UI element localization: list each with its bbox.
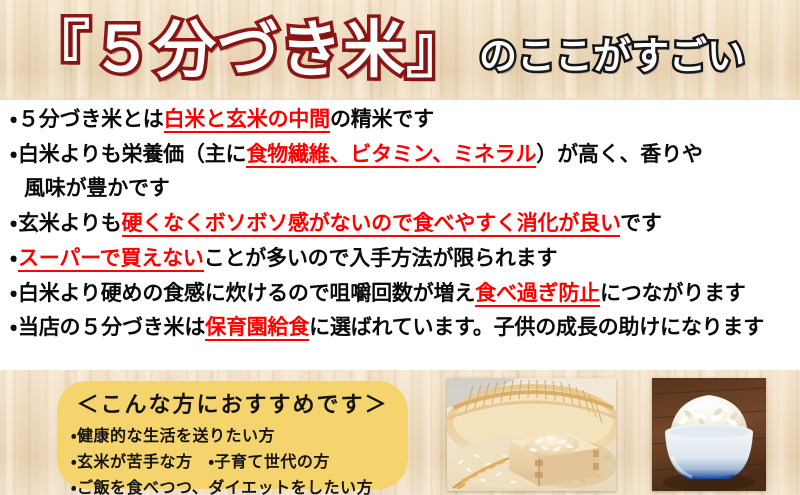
recommendation-item-text: ・玄米が苦手な方 (71, 452, 192, 471)
rice-in-masu-box-illustration (447, 378, 616, 491)
cooked-rice-bowl-illustration (652, 378, 766, 491)
bullet-marker: ・ (10, 246, 17, 270)
bullet-text-plain: ことが多いので入手方法が限られます (204, 246, 558, 270)
bullet-text-highlight: 食物繊維、ビタミン、ミネラル (246, 142, 536, 168)
promo-image: 『５分づき米』 のここがすごい ・５分づき米とは白米と玄米の中間の精米です ・白… (0, 0, 800, 495)
recommendation-item: ・健康的な生活を送りたい方 (71, 422, 408, 446)
bullet-text-highlight: 硬くなくボソボソ感がないので食べやすく消化が良い (122, 211, 621, 237)
list-item: ・白米よりも栄養価（主に食物繊維、ビタミン、ミネラル）が高く、香りや (10, 141, 792, 169)
recommendation-item: ・ご飯を食べつつ、ダイエットをしたい方 (71, 474, 408, 495)
header-title-row: 『５分づき米』 のここがすごい (0, 0, 800, 100)
bullet-text-highlight: 保育園給食 (205, 315, 309, 341)
recommendation-title: ＜こんな方におすすめです＞ (57, 387, 408, 419)
bullet-text-plain: に選ばれています。子供の成長の助けになります (309, 315, 764, 339)
list-item: ・スーパーで買えないことが多いので入手方法が限られます (10, 245, 792, 273)
benefit-list: ・５分づき米とは白米と玄米の中間の精米です ・白米よりも栄養価（主に食物繊維、ビ… (0, 100, 800, 370)
bullet-text-plain: 玄米よりも (18, 211, 122, 235)
page-subtitle: のここがすごい (479, 37, 745, 75)
bullet-text-plain: 風味が豊かです (24, 176, 170, 200)
page-title: 『５分づき米』 (28, 19, 469, 81)
bullet-marker: ・ (10, 107, 17, 131)
rice-in-masu-box-photo (447, 378, 616, 491)
cooked-rice-bowl-photo (652, 378, 766, 491)
bullet-marker: ・ (10, 211, 17, 235)
list-item: ・当店の５分づき米は保育園給食に選ばれています。子供の成長の助けになります (10, 314, 792, 342)
bullet-marker: ・ (10, 281, 17, 305)
recommendation-item: ・玄米が苦手な方・子育て世代の方 (71, 448, 408, 472)
bullet-text-plain: 当店の５分づき米は (18, 315, 205, 339)
list-item-continuation: 風味が豊かです (10, 175, 792, 203)
bullet-text-plain: につながります (600, 281, 746, 305)
recommendation-item-text: ・ご飯を食べつつ、ダイエットをしたい方 (71, 478, 373, 495)
recommendation-item-text: ・健康的な生活を送りたい方 (71, 426, 275, 445)
list-item: ・５分づき米とは白米と玄米の中間の精米です (10, 106, 792, 134)
list-item: ・白米より硬めの食感に炊けるので咀嚼回数が増え食べ過ぎ防止につながります (10, 280, 792, 308)
bullet-text-plain: 白米より硬めの食感に炊けるので咀嚼回数が増え (18, 281, 475, 305)
bullet-text-plain: です (620, 211, 662, 235)
bullet-text-plain: の精米です (330, 107, 434, 131)
recommendation-panel: ＜こんな方におすすめです＞ ・健康的な生活を送りたい方 ・玄米が苦手な方・子育て… (57, 381, 408, 489)
list-item: ・玄米よりも硬くなくボソボソ感がないので食べやすく消化が良いです (10, 210, 792, 238)
bullet-text-plain: ５分づき米とは (18, 107, 164, 131)
bullet-text-highlight: 白米と玄米の中間 (164, 107, 330, 133)
recommendation-item-text: ・子育て世代の方 (208, 452, 329, 471)
bullet-text-highlight: スーパーで買えない (18, 246, 204, 272)
bullet-marker: ・ (10, 315, 17, 339)
bullet-text-highlight: 食べ過ぎ防止 (475, 281, 600, 307)
bullet-text-plain: ）が高く、香りや (536, 142, 702, 166)
bullet-text-plain: 白米よりも栄養価（主に (18, 142, 246, 166)
bullet-marker: ・ (10, 142, 17, 166)
